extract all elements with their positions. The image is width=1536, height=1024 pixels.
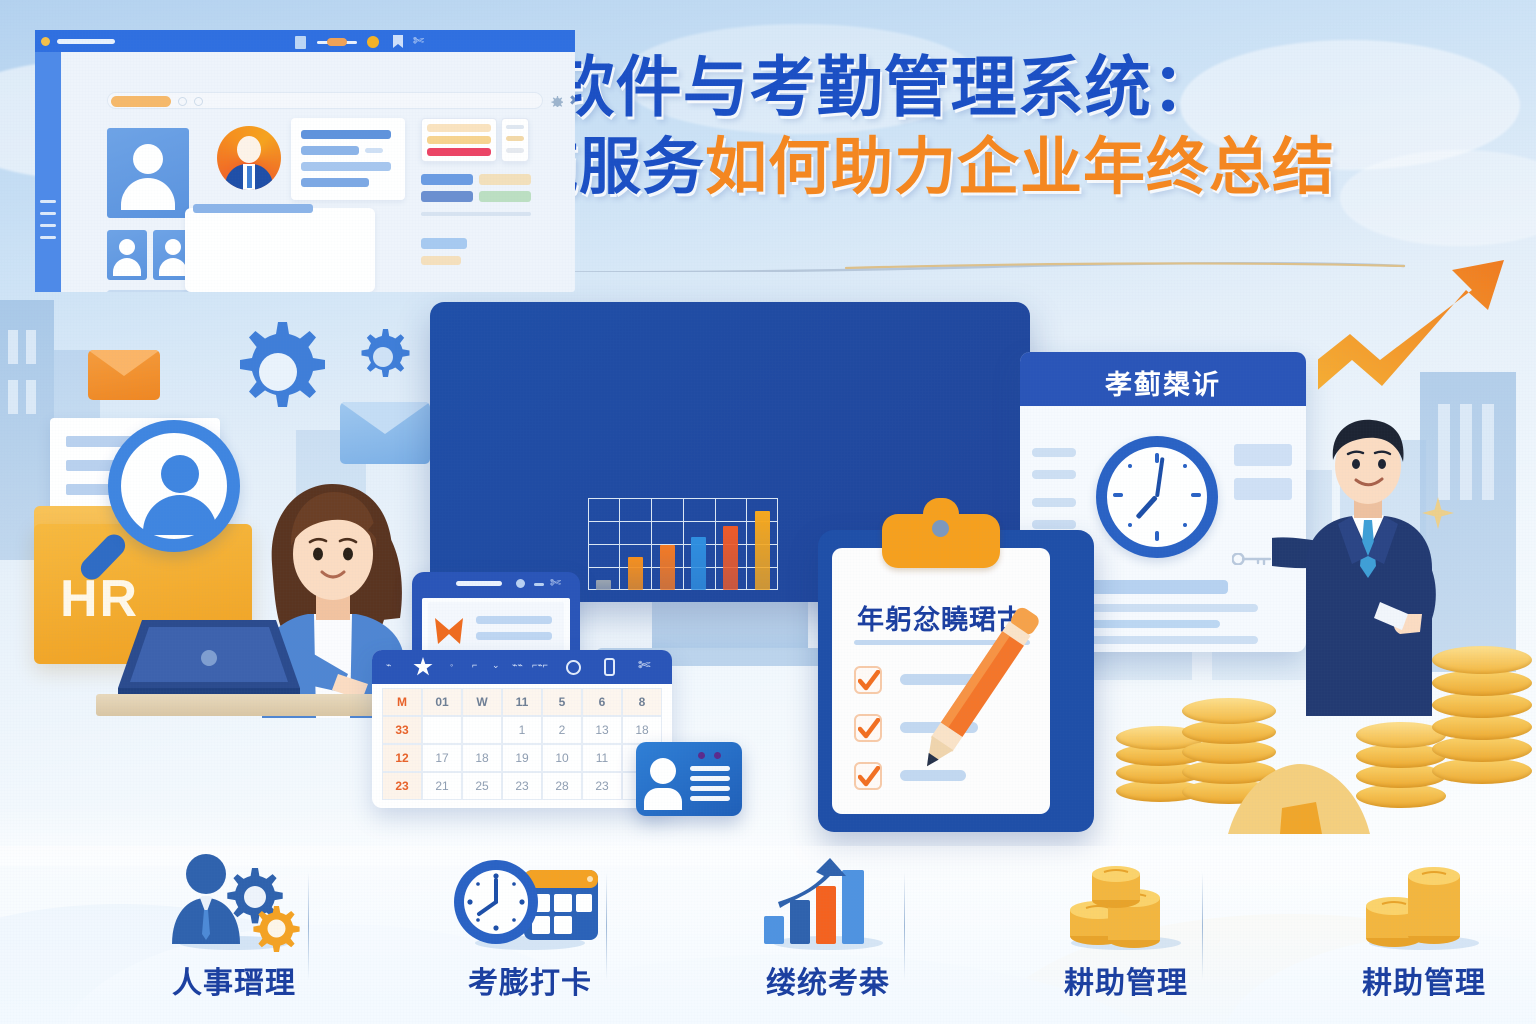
feature-label: 耕助管理: [1304, 958, 1536, 1002]
calendar-weekday: W: [462, 688, 502, 716]
gold-ingot-icon: [1224, 762, 1374, 839]
calendar-day[interactable]: 21: [422, 772, 462, 800]
status-card[interactable]: [421, 118, 497, 162]
monitor-stand: [652, 600, 808, 652]
placeholder-chip: [479, 191, 531, 202]
calendar-day[interactable]: 11: [582, 744, 622, 772]
desk: [96, 694, 396, 716]
feature-item-payroll[interactable]: 耕助管理: [1006, 852, 1246, 1002]
envelope-icon: [88, 350, 160, 400]
key-icon: [1232, 552, 1272, 564]
calendar-weekday: 01: [422, 688, 462, 716]
calendar-day[interactable]: 19: [502, 744, 542, 772]
panel-header: 孝蓟槼䜣: [1020, 352, 1306, 406]
scissors-icon[interactable]: ✄: [638, 656, 651, 674]
calendar-day[interactable]: [462, 716, 502, 744]
laptop: [118, 614, 300, 706]
calendar-weekday: M: [382, 688, 422, 716]
placeholder-line: [421, 212, 531, 216]
feature-bar: 人事瑨理: [0, 846, 1536, 1024]
phone-icon[interactable]: [604, 658, 615, 676]
close-x-icon[interactable]: ✄: [413, 33, 424, 49]
monitor-toolbar: ✄: [35, 30, 575, 52]
calendar-weekday: 6: [582, 688, 622, 716]
chart-card[interactable]: [185, 208, 375, 292]
employee-photo-card[interactable]: [107, 128, 189, 218]
gear-icon[interactable]: [551, 94, 563, 112]
feature-label: 人事瑨理: [114, 958, 354, 1002]
calendar-day[interactable]: [422, 716, 462, 744]
small-gear-icon: [352, 326, 414, 393]
chart-bar: [723, 526, 738, 590]
record-dot-icon[interactable]: [367, 36, 379, 48]
feature-item-attendance[interactable]: 考膨打卡: [410, 852, 650, 1002]
feature-label: 考膨打卡: [410, 958, 650, 1002]
title-placeholder: [57, 39, 115, 44]
placeholder-chip: [421, 174, 473, 185]
calendar-weekday: 5: [542, 688, 582, 716]
close-x-icon[interactable]: ✖: [569, 92, 575, 109]
search-input[interactable]: [107, 92, 543, 109]
search-active-pill: [111, 96, 171, 107]
envelope-icon: [340, 402, 430, 464]
legend-card[interactable]: [501, 118, 529, 162]
slider-knob-icon[interactable]: [327, 38, 347, 46]
growth-arrow-icon: [1318, 252, 1536, 452]
feature-item-compensation[interactable]: 耕助管理: [1304, 852, 1536, 1002]
calendar-day[interactable]: 23: [582, 772, 622, 800]
calendar-day[interactable]: 23: [502, 772, 542, 800]
chart-bar: [660, 545, 675, 590]
clock-icon: [1096, 436, 1218, 558]
placeholder-chip: [421, 256, 461, 265]
panel-title: 孝蓟槼䜣: [1020, 363, 1306, 402]
checkbox-checked[interactable]: [854, 762, 882, 790]
coins-icon: [1432, 638, 1536, 818]
calendar-day[interactable]: 33: [382, 716, 422, 744]
avatar: [1272, 416, 1452, 716]
clipboard-clamp: [882, 514, 1000, 568]
infographic-poster: HR管理软件与考勤管理系统： 人事系统实施服务如何助力企业年终总结: [0, 0, 1536, 1024]
placeholder-line: [107, 290, 193, 292]
minimize-icon[interactable]: [534, 583, 544, 586]
avatar[interactable]: [217, 126, 281, 190]
calendar-weekday: 8: [622, 688, 662, 716]
calendar-day[interactable]: 13: [582, 716, 622, 744]
bookmark-icon[interactable]: [393, 35, 403, 53]
checkbox-checked[interactable]: [854, 714, 882, 742]
title-placeholder: [456, 581, 502, 586]
feature-item-hr[interactable]: 人事瑨理: [114, 852, 354, 1002]
window-icon[interactable]: [295, 36, 306, 49]
chart-bar: [596, 580, 611, 590]
calendar-day[interactable]: 10: [542, 744, 582, 772]
employee-info-card[interactable]: [291, 118, 405, 200]
calendar-day[interactable]: 28: [542, 772, 582, 800]
monitor-sidebar: [35, 52, 61, 292]
placeholder-chip: [479, 174, 531, 185]
calendar-day[interactable]: 25: [462, 772, 502, 800]
chart-bar: [755, 511, 770, 590]
id-badge[interactable]: [636, 742, 742, 816]
chart-bar: [691, 537, 706, 590]
star-icon[interactable]: [412, 656, 434, 683]
employee-photo-card[interactable]: [107, 230, 147, 280]
calendar-grid[interactable]: M01W115683312131812171819101123212523282…: [382, 688, 662, 800]
gear-icon: [222, 316, 334, 433]
feature-label: 耕助管理: [1006, 958, 1246, 1002]
placeholder-chip: [421, 238, 467, 249]
clock-hour-hand: [1136, 495, 1158, 519]
calendar-day[interactable]: 18: [462, 744, 502, 772]
title-line-2-orange: 如何助力企业年终总结: [705, 133, 1335, 202]
bar-chart: [588, 498, 778, 590]
chart-title-placeholder: [193, 204, 313, 213]
calendar-day[interactable]: 18: [622, 716, 662, 744]
close-x-icon[interactable]: ✄: [550, 575, 561, 591]
calendar-header: ⌁ ◦ ⌐ ⌄ ⌁⌁ ⌐⌁⌐ ✄: [372, 650, 672, 684]
magnifier-user-icon: [108, 420, 240, 552]
calendar-weekday: 11: [502, 688, 542, 716]
calendar-day[interactable]: 12: [382, 744, 422, 772]
broken-image-icon: [432, 616, 466, 651]
clamp-hole: [932, 520, 949, 537]
calendar-day[interactable]: 1: [502, 716, 542, 744]
calendar-day[interactable]: 17: [422, 744, 462, 772]
dashboard-screen: ✖: [35, 30, 575, 292]
checklist-clipboard: 年躬忿䁱珺古: [818, 530, 1094, 832]
record-dot-icon[interactable]: [41, 37, 50, 46]
feature-label: 缕统考㭟: [708, 958, 948, 1002]
record-dot-icon[interactable]: [516, 579, 525, 588]
checkbox-checked[interactable]: [854, 666, 882, 694]
circle-icon[interactable]: [566, 660, 581, 675]
calendar-day[interactable]: 23: [382, 772, 422, 800]
clock-minute-hand: [1155, 457, 1165, 497]
feature-item-performance[interactable]: 缕统考㭟: [708, 852, 948, 1002]
calendar-widget[interactable]: ⌁ ◦ ⌐ ⌄ ⌁⌁ ⌐⌁⌐ ✄ M01W1156833121318121718…: [372, 650, 672, 808]
chart-bar: [628, 557, 643, 590]
calendar-day[interactable]: 2: [542, 716, 582, 744]
placeholder-chip: [421, 191, 473, 202]
